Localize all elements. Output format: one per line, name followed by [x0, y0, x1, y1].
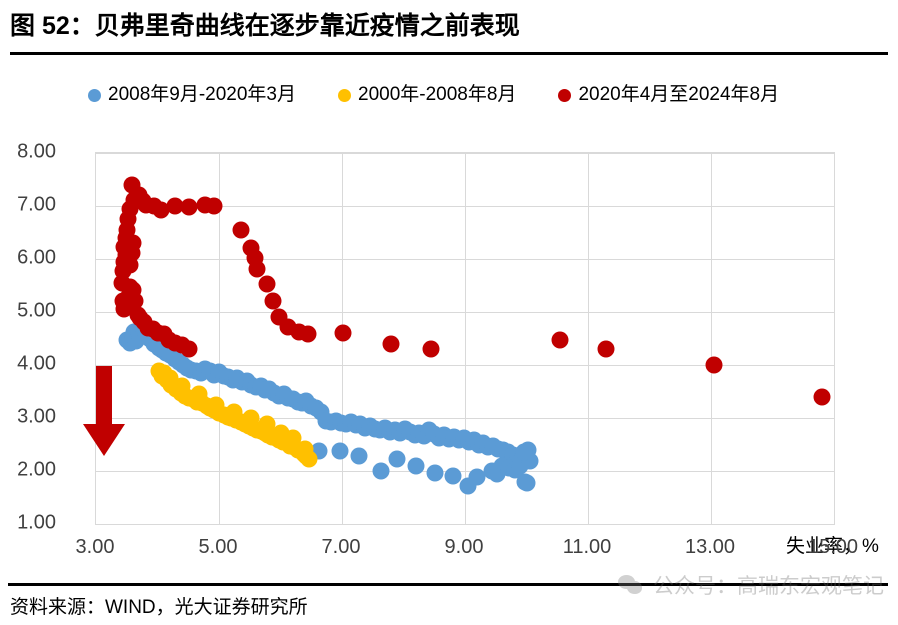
y-axis-tick-label: 5.00	[0, 300, 56, 323]
data-point	[181, 199, 198, 216]
data-point	[598, 341, 615, 358]
page-title: 图 52：贝弗里奇曲线在逐步靠近疫情之前表现	[10, 8, 888, 44]
data-point	[181, 341, 198, 358]
data-point	[518, 474, 535, 491]
title-bar: 图 52：贝弗里奇曲线在逐步靠近疫情之前表现	[10, 8, 888, 54]
legend-item-blue[interactable]: 2008年9月-2020年3月	[88, 84, 296, 106]
data-point	[258, 276, 275, 293]
gridline-vertical	[711, 153, 712, 524]
legend-label-blue: 2008年9月-2020年3月	[108, 84, 296, 106]
wechat-icon	[618, 575, 644, 595]
x-axis-tick-label: 3.00	[50, 536, 140, 559]
data-point	[207, 396, 224, 413]
plot-area: 失业率，%	[95, 152, 835, 525]
x-axis-tick-label: 11.00	[542, 536, 632, 559]
data-point	[249, 260, 266, 277]
data-point	[389, 451, 406, 468]
data-point	[242, 410, 259, 427]
x-axis-tick-label: 13.00	[665, 536, 755, 559]
data-point	[813, 388, 830, 405]
plot-wrapper: 职位空缺率，% 失业率，% 1.002.003.004.005.006.007.…	[0, 118, 898, 558]
data-point	[460, 477, 477, 494]
data-point	[484, 463, 501, 480]
data-point	[516, 444, 533, 461]
data-point	[226, 403, 243, 420]
data-point	[383, 335, 400, 352]
data-point	[232, 221, 249, 238]
data-point	[122, 257, 139, 274]
legend-item-yellow[interactable]: 2000年-2008年8月	[338, 84, 516, 106]
legend-marker-red	[558, 89, 571, 102]
data-point	[423, 341, 440, 358]
data-point	[351, 448, 368, 465]
data-point	[373, 463, 390, 480]
data-point	[335, 325, 352, 342]
gridline-vertical	[465, 153, 466, 524]
title-divider	[10, 52, 888, 55]
data-point	[258, 416, 275, 433]
data-point	[191, 386, 208, 403]
data-point	[552, 331, 569, 348]
data-point	[206, 198, 223, 215]
data-point	[331, 442, 348, 459]
y-axis-tick-label: 2.00	[0, 459, 56, 482]
data-point	[427, 465, 444, 482]
data-point	[706, 357, 723, 374]
legend-marker-yellow	[338, 89, 351, 102]
watermark-text: 公众号：高瑞东宏观笔记	[653, 570, 884, 600]
y-axis-tick-label: 1.00	[0, 512, 56, 535]
chart-legend: 2008年9月-2020年3月 2000年-2008年8月 2020年4月至20…	[88, 80, 868, 110]
x-axis-tick-label: 5.00	[173, 536, 263, 559]
source-note: 资料来源：WIND，光大证券研究所	[10, 592, 308, 619]
y-axis-tick-label: 6.00	[0, 247, 56, 270]
data-point	[265, 293, 282, 310]
y-axis-tick-label: 8.00	[0, 141, 56, 164]
gridline-vertical	[834, 153, 835, 524]
gridline-horizontal	[96, 524, 834, 525]
watermark: 公众号：高瑞东宏观笔记	[618, 570, 884, 600]
x-axis-tick-label: 7.00	[296, 536, 386, 559]
legend-item-red[interactable]: 2020年4月至2024年8月	[558, 84, 779, 106]
gridline-vertical	[588, 153, 589, 524]
legend-label-red: 2020年4月至2024年8月	[578, 84, 779, 106]
down-arrow-annotation	[78, 366, 130, 458]
legend-label-yellow: 2000年-2008年8月	[358, 84, 516, 106]
data-point	[407, 457, 424, 474]
y-axis-tick-label: 4.00	[0, 353, 56, 376]
y-axis-tick-label: 7.00	[0, 194, 56, 217]
figure-panel: 图 52：贝弗里奇曲线在逐步靠近疫情之前表现 2008年9月-2020年3月 2…	[0, 0, 898, 625]
data-point	[300, 326, 317, 343]
data-point	[155, 364, 172, 381]
y-axis-tick-label: 3.00	[0, 406, 56, 429]
x-axis-tick-label: 15.00	[788, 536, 878, 559]
data-point	[444, 468, 461, 485]
legend-marker-blue	[88, 89, 101, 102]
x-axis-tick-label: 9.00	[419, 536, 509, 559]
